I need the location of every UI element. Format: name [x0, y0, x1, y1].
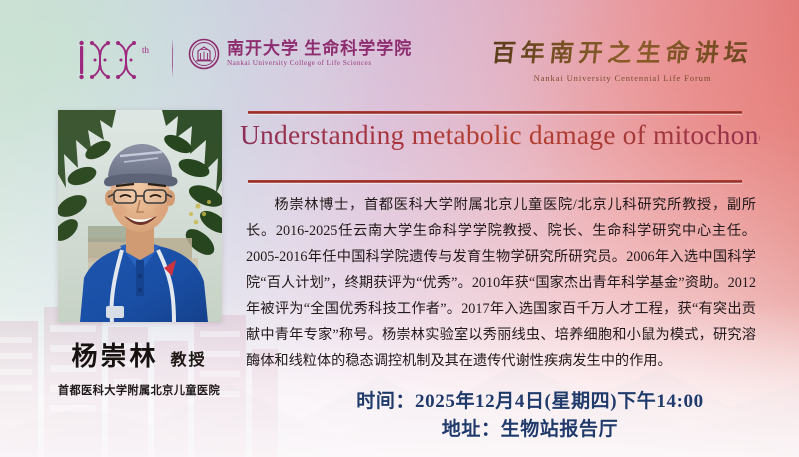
nankai-university-seal-icon — [188, 38, 220, 70]
title-rule-bottom — [248, 180, 742, 183]
dna-helix-100th-icon: th — [78, 40, 166, 80]
poster-header: th 南开大学 生命科学学院 Nankai University College… — [0, 0, 799, 92]
speaker-info: 杨崇林 教授 首都医科大学附属北京儿童医院 — [0, 336, 278, 398]
title-rule-top — [248, 111, 742, 114]
nankai-logo: 南开大学 生命科学学院 Nankai University College of… — [188, 38, 412, 70]
nankai-name-en: Nankai University College of Life Scienc… — [227, 60, 412, 67]
speaker-biography: 杨崇林博士，首都医科大学附属北京儿童医院/北京儿科研究所教授，副所长。2016-… — [246, 192, 756, 374]
speaker-name: 杨崇林 — [71, 336, 158, 373]
centennial-logo: th — [78, 40, 166, 80]
forum-brand: 百年南开之生命讲坛 Nankai University Centennial L… — [492, 33, 753, 83]
lecture-title: Understanding metabolic damage of mitoch… — [240, 119, 760, 151]
header-divider — [172, 38, 173, 78]
centennial-superscript: th — [142, 45, 150, 55]
forum-title-en: Nankai University Centennial Life Forum — [492, 73, 753, 83]
event-venue: 地址：生物站报告厅 — [280, 416, 780, 444]
speaker-name-row: 杨崇林 教授 — [0, 336, 278, 373]
forum-title-cn: 百年南开之生命讲坛 — [490, 33, 755, 68]
speaker-title: 教授 — [171, 346, 207, 370]
speaker-photo — [58, 110, 222, 322]
lecture-poster: th 南开大学 生命科学学院 Nankai University College… — [0, 0, 799, 457]
event-details: 时间：2025年12月4日(星期四)下午14:00 地址：生物站报告厅 — [280, 388, 780, 444]
speaker-portrait-illustration — [58, 110, 222, 322]
speaker-affiliation: 首都医科大学附属北京儿童医院 — [0, 382, 278, 398]
event-time: 时间：2025年12月4日(星期四)下午14:00 — [280, 388, 780, 416]
nankai-name-cn: 南开大学 生命科学学院 — [227, 40, 412, 57]
